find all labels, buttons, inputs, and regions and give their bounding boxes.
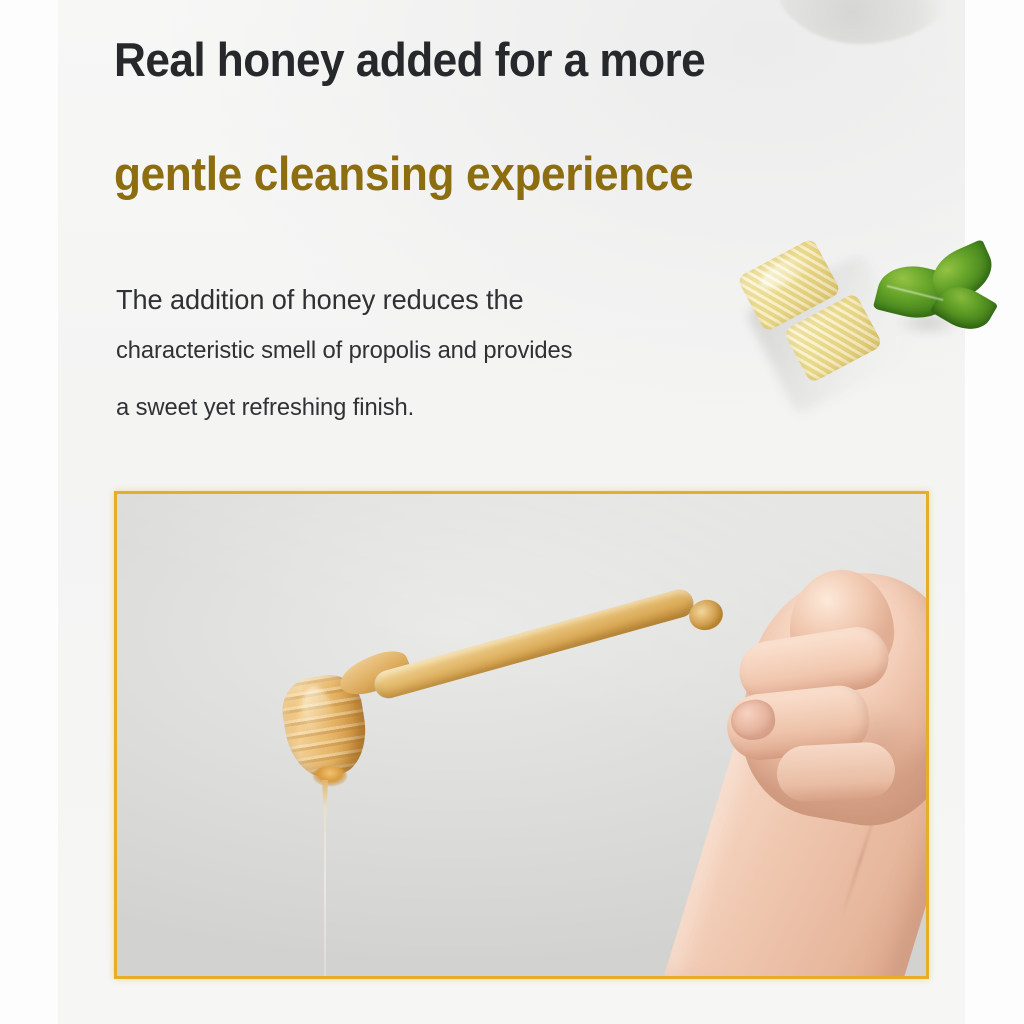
mint-leaves-decoration [876, 248, 996, 360]
headline-line-1: Real honey added for a more [114, 32, 791, 87]
middle-finger [776, 741, 897, 803]
headline-line-2: gentle cleansing experience [114, 146, 866, 201]
body-copy: The addition of honey reduces the charac… [116, 278, 756, 436]
body-line-3: a sweet yet refreshing finish. [116, 380, 750, 436]
body-line-1: The addition of honey reduces the [116, 278, 737, 322]
honey-pool [313, 766, 347, 786]
body-line-2: characteristic smell of propolis and pro… [116, 322, 750, 380]
right-margin-strip [965, 0, 1024, 1024]
product-photo-frame [114, 491, 929, 979]
product-feature-poster: Real honey added for a more gentle clean… [0, 0, 1024, 1024]
left-margin-strip [0, 0, 58, 1024]
